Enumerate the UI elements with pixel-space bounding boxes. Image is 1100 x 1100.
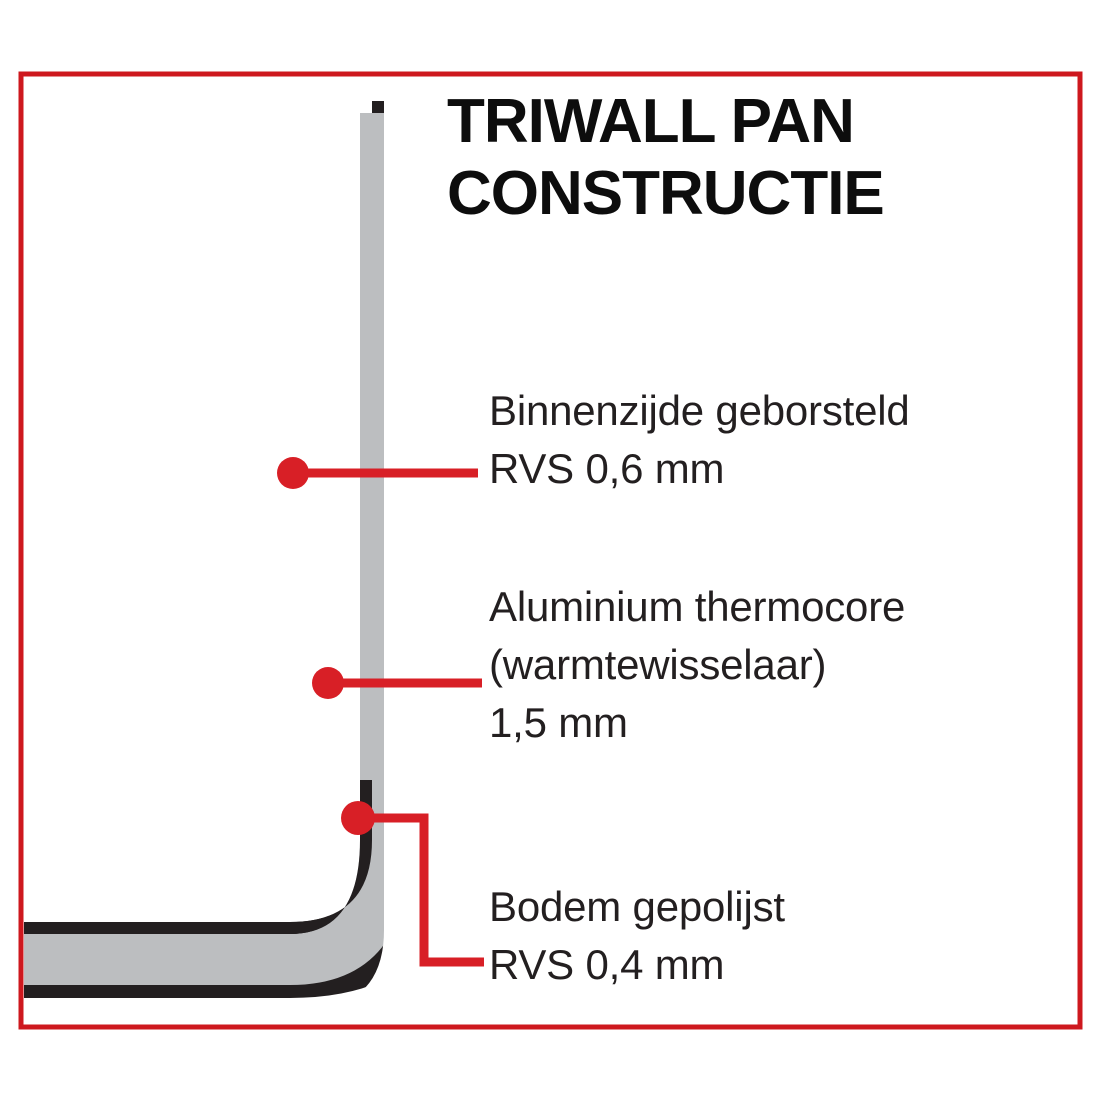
- callout-label-bottom-layer: Bodem gepolijst RVS 0,4 mm: [489, 878, 1049, 994]
- leader-dot-core: [312, 667, 344, 699]
- triwall-pan-construction-infographic: TRIWALL PAN CONSTRUCTIE Binnenzijde gebo…: [0, 0, 1100, 1100]
- leader-dot-bottom: [341, 801, 375, 835]
- callout-label-core-layer: Aluminium thermocore (warmtewisselaar) 1…: [489, 578, 1079, 752]
- page-title: TRIWALL PAN CONSTRUCTIE: [447, 86, 1047, 230]
- aluminium-thermocore-layer: [24, 113, 411, 985]
- callout-label-inner-layer: Binnenzijde geborsteld RVS 0,6 mm: [489, 382, 1069, 498]
- leader-dot-inner: [277, 457, 309, 489]
